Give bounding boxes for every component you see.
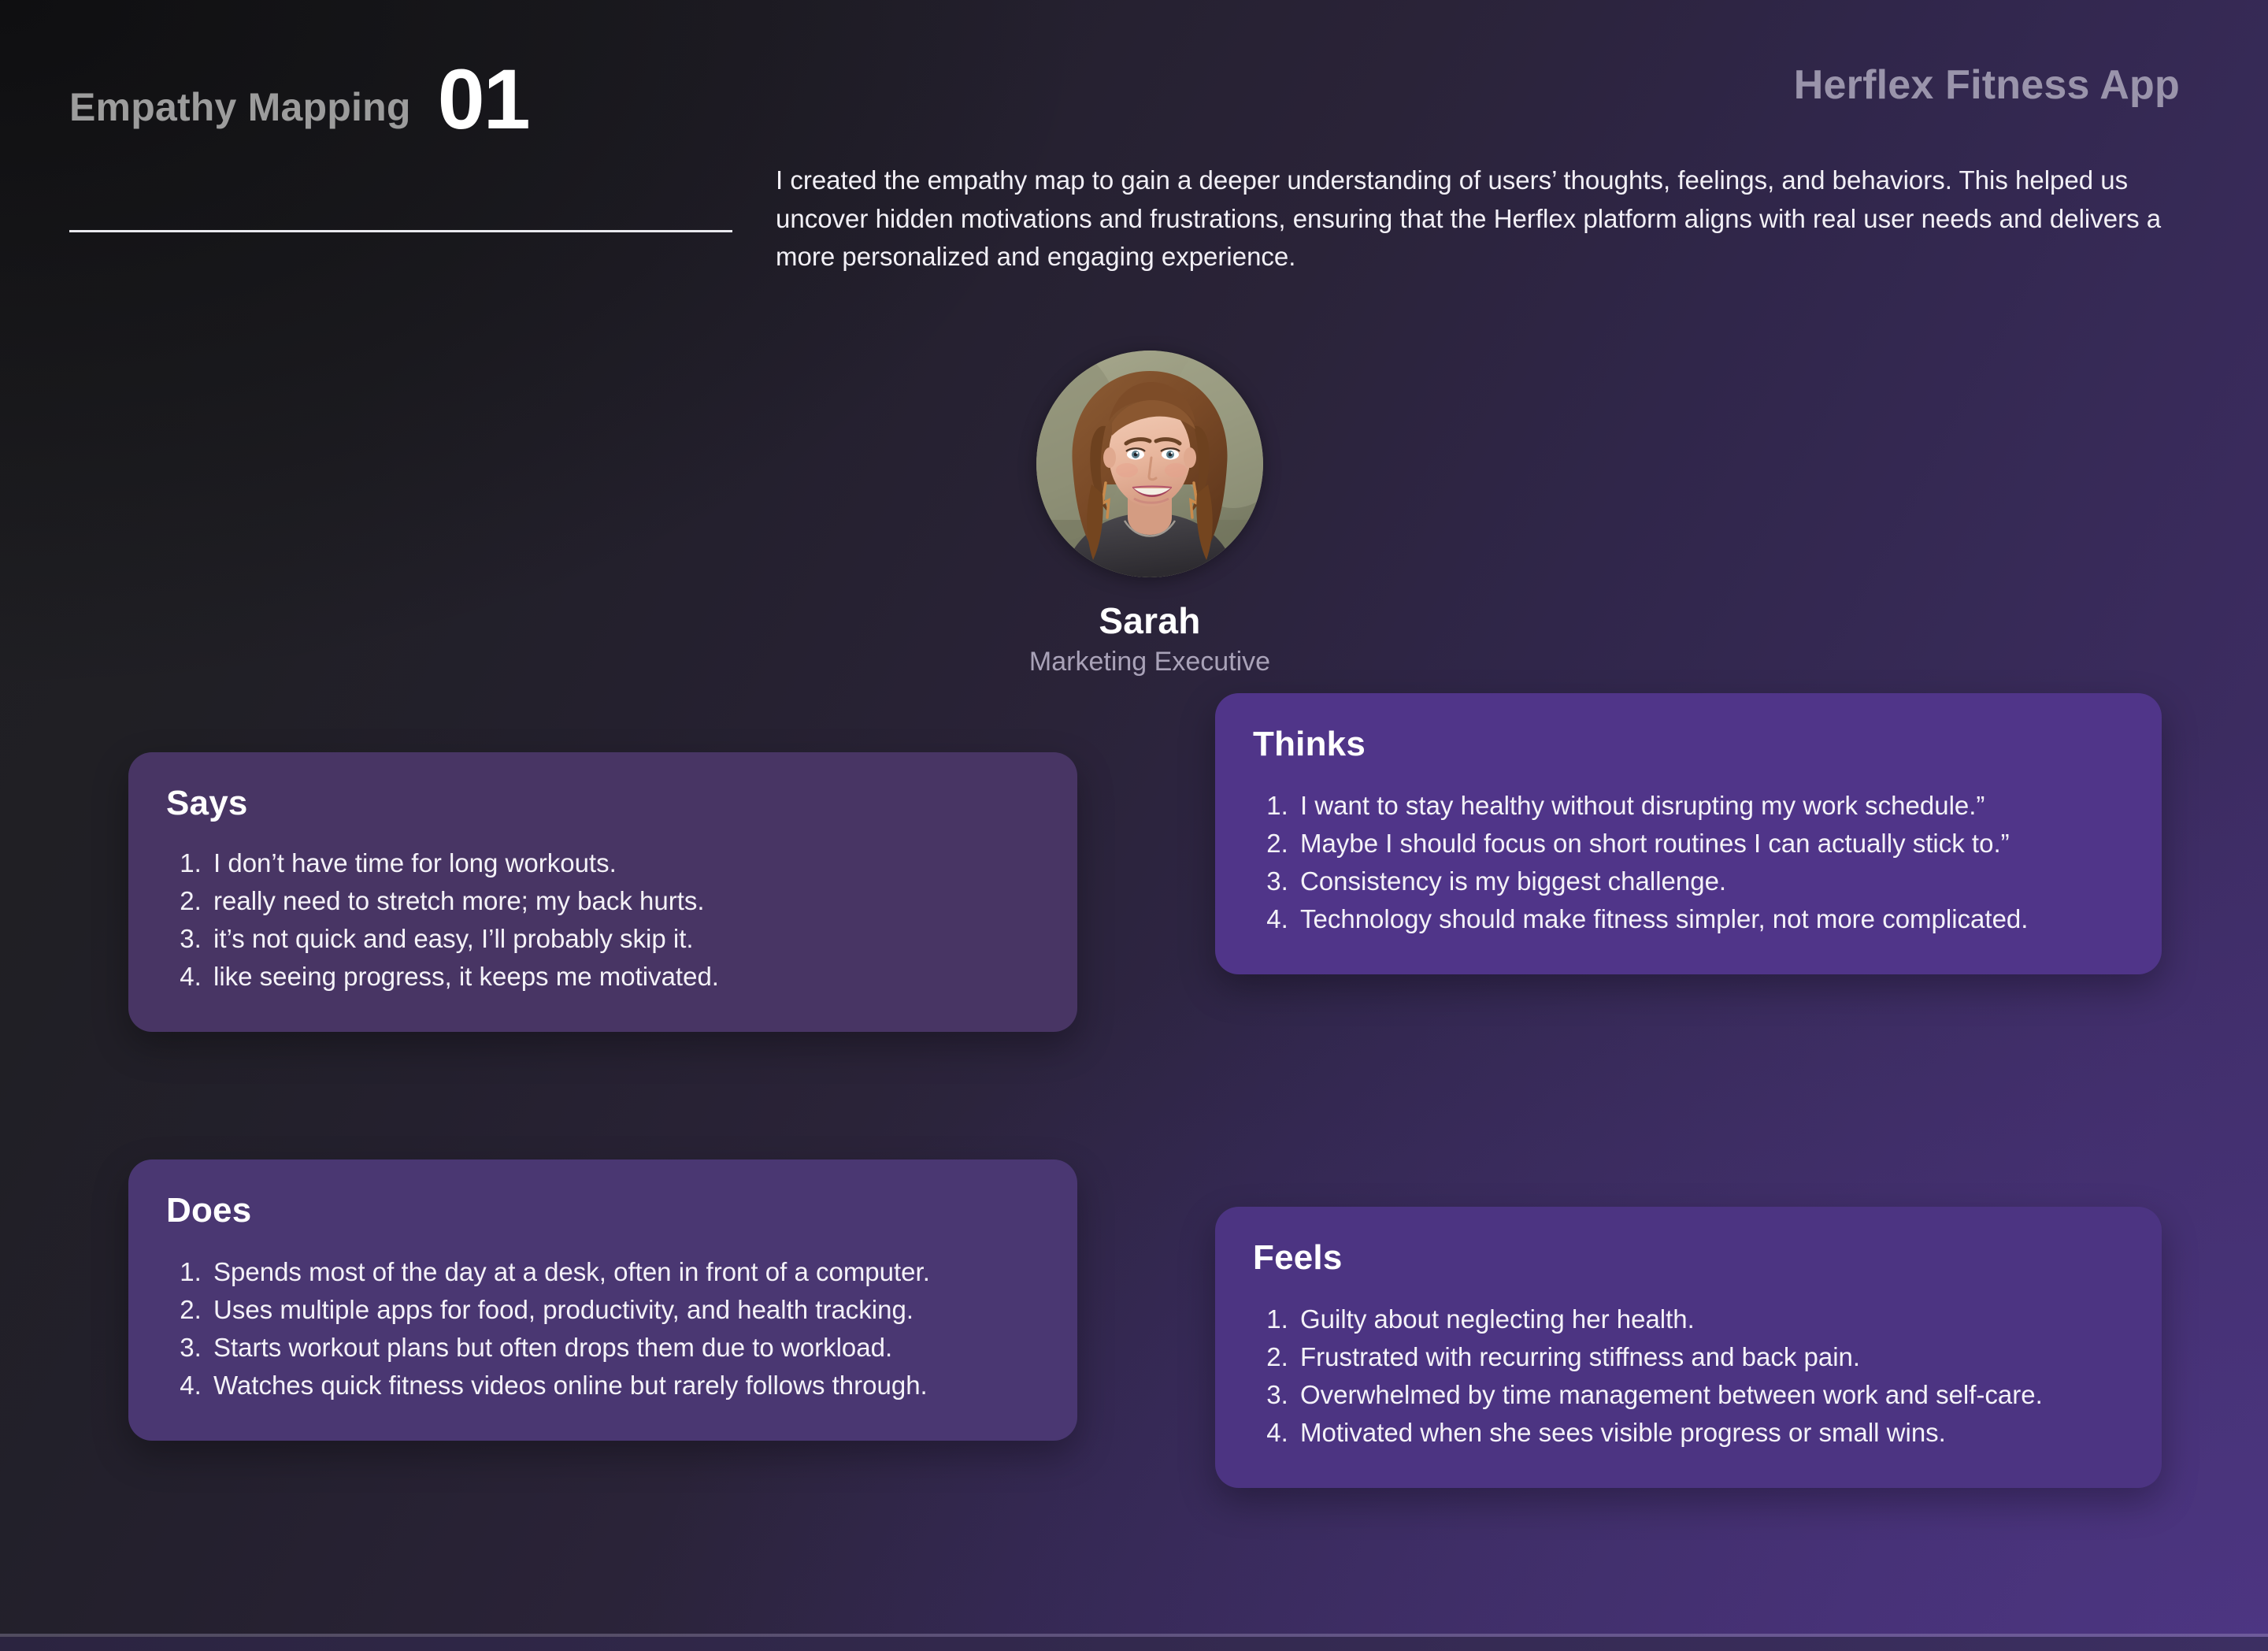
quadrant-card-does: Does Spends most of the day at a desk, o… — [128, 1159, 1077, 1441]
card-title-does: Does — [166, 1191, 1039, 1230]
card-list-thinks: I want to stay healthy without disruptin… — [1253, 788, 2124, 937]
intro-paragraph: I created the empathy map to gain a deep… — [776, 161, 2162, 276]
quadrant-card-thinks: Thinks I want to stay healthy without di… — [1215, 693, 2162, 974]
header-divider — [69, 230, 732, 232]
persona-name: Sarah — [1099, 599, 1200, 642]
project-title: Herflex Fitness App — [1794, 61, 2180, 109]
card-title-feels: Feels — [1253, 1238, 2124, 1278]
list-item: it’s not quick and easy, I’ll probably s… — [209, 921, 1039, 957]
list-item: I want to stay healthy without disruptin… — [1295, 788, 2124, 824]
card-list-feels: Guilty about neglecting her health. Frus… — [1253, 1301, 2124, 1450]
list-item: Uses multiple apps for food, productivit… — [209, 1292, 1039, 1328]
card-title-says: Says — [166, 784, 1039, 823]
persona-role: Marketing Executive — [1029, 647, 1270, 677]
avatar — [1036, 351, 1263, 577]
card-list-does: Spends most of the day at a desk, often … — [166, 1254, 1039, 1403]
list-item: Motivated when she sees visible progress… — [1295, 1415, 2124, 1451]
quadrant-card-feels: Feels Guilty about neglecting her health… — [1215, 1207, 2162, 1488]
slide-canvas: Empathy Mapping 01 Herflex Fitness App I… — [0, 0, 2268, 1651]
list-item: Overwhelmed by time management between w… — [1295, 1377, 2124, 1413]
page-title: Empathy Mapping — [69, 84, 411, 130]
list-item: Spends most of the day at a desk, often … — [209, 1254, 1039, 1290]
section-number: 01 — [438, 65, 529, 135]
list-item: like seeing progress, it keeps me motiva… — [209, 959, 1039, 995]
list-item: Guilty about neglecting her health. — [1295, 1301, 2124, 1337]
list-item: Frustrated with recurring stiffness and … — [1295, 1339, 2124, 1375]
list-item: I don’t have time for long workouts. — [209, 845, 1039, 881]
list-item: Consistency is my biggest challenge. — [1295, 863, 2124, 900]
list-item: really need to stretch more; my back hur… — [209, 883, 1039, 919]
card-list-says: I don’t have time for long workouts. rea… — [166, 845, 1039, 994]
persona-block: Sarah Marketing Executive — [835, 351, 1465, 677]
list-item: Watches quick fitness videos online but … — [209, 1367, 1039, 1404]
list-item: Maybe I should focus on short routines I… — [1295, 825, 2124, 862]
quadrant-card-says: Says I don’t have time for long workouts… — [128, 752, 1077, 1032]
slide-header-left: Empathy Mapping 01 — [69, 57, 529, 130]
list-item: Technology should make fitness simpler, … — [1295, 901, 2124, 937]
list-item: Starts workout plans but often drops the… — [209, 1330, 1039, 1366]
card-title-thinks: Thinks — [1253, 725, 2124, 764]
